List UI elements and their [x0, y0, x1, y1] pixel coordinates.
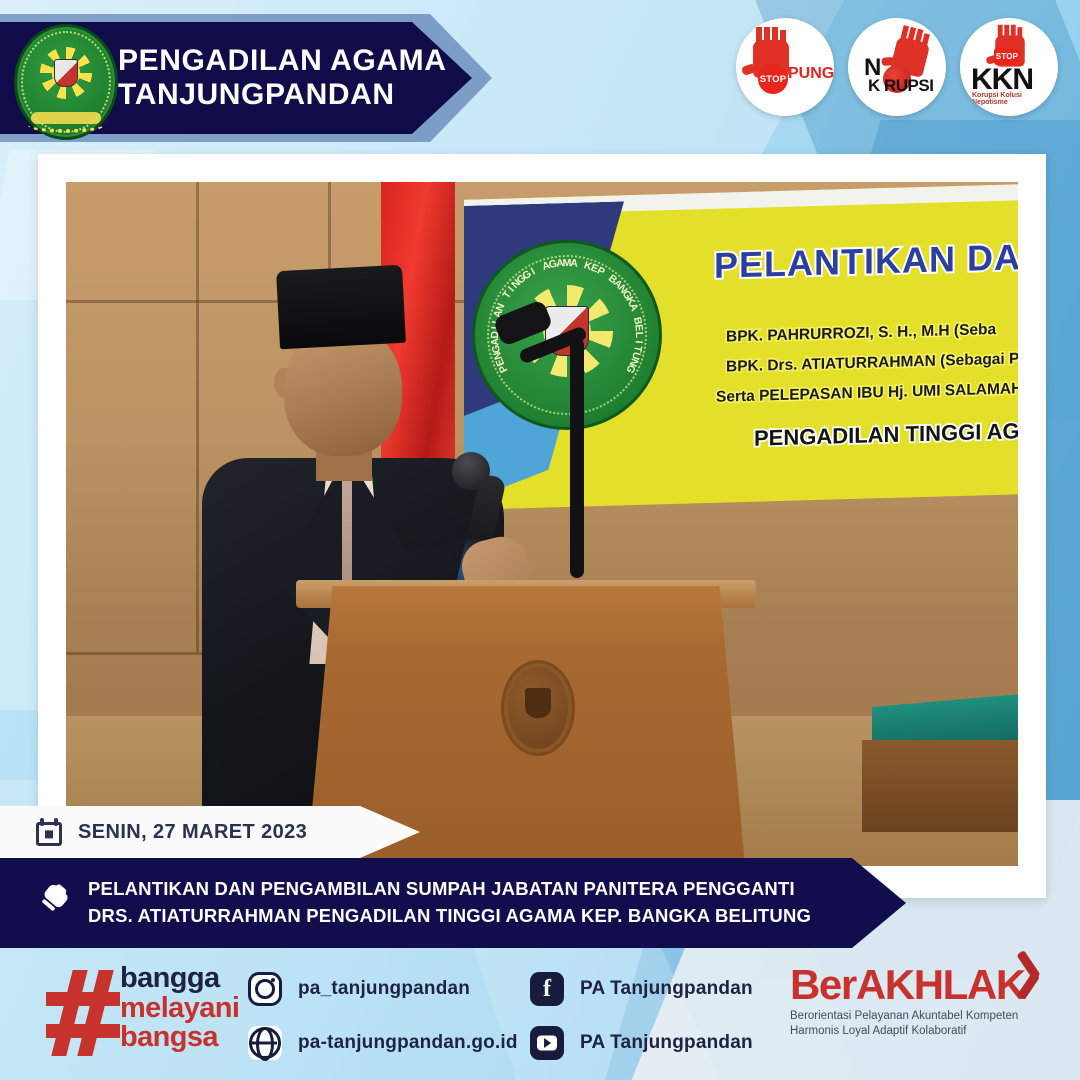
- banner-line-2: BPK. Drs. ATIATURRAHMAN (Sebagai P: [726, 350, 1018, 376]
- berakhlak-tagline: Berorientasi Pelayanan Akuntabel Kompete…: [790, 1009, 1058, 1039]
- podium-seal-icon: [501, 660, 575, 756]
- berakhlak-tagline-line1: Berorientasi Pelayanan Akuntabel Kompete…: [790, 1009, 1058, 1024]
- stand-mic: [570, 338, 584, 578]
- page-title-line1: PENGADILAN AGAMA: [118, 44, 446, 77]
- kkn-badge: STOP KKN Korupsi Kolusi Nepotisme: [960, 18, 1058, 116]
- youtube-icon[interactable]: [530, 1026, 564, 1060]
- kkn-sublabel: Korupsi Kolusi Nepotisme: [972, 92, 1058, 106]
- social-item-website[interactable]: pa-tanjungpandan.go.id: [248, 1020, 518, 1066]
- instagram-icon[interactable]: [248, 972, 282, 1006]
- bangga-melayani-bangsa-logo: bangga melayani bangsa: [46, 962, 238, 1062]
- social-item-instagram[interactable]: pa_tanjungpandan: [248, 966, 518, 1012]
- emblem-laurel: [28, 117, 105, 133]
- no-korupsi-badge: N K RUPSI: [848, 18, 946, 116]
- event-date: SENIN, 27 MARET 2023: [78, 821, 307, 844]
- berakhlak-part2: AKHLAK: [856, 961, 1025, 1008]
- social-column-left: pa_tanjungpandan pa-tanjungpandan.go.id: [248, 966, 518, 1074]
- berakhlak-tagline-line2: Harmonis Loyal Adaptif Kolaboratif: [790, 1024, 1058, 1039]
- berakhlak-wordmark: BerAKHLAK: [790, 964, 1058, 1006]
- instagram-handle[interactable]: pa_tanjungpandan: [298, 978, 470, 1000]
- caption-line-2: DRS. ATIATURRAHMAN PENGADILAN TINGGI AGA…: [88, 903, 811, 930]
- calendar-icon: [36, 818, 62, 846]
- pushpin-icon: [40, 886, 70, 920]
- stop-label: STOP: [758, 64, 788, 94]
- banner-title: PELANTIKAN DAN PENGAM: [714, 236, 1018, 287]
- banner-footer: PENGADILAN TINGGI AGAMA: [754, 417, 1018, 452]
- social-column-right: f PA Tanjungpandan PA Tanjungpandan: [530, 966, 753, 1074]
- globe-icon[interactable]: [248, 1026, 282, 1060]
- facebook-icon[interactable]: f: [530, 972, 564, 1006]
- bangga-word-3: bangsa: [120, 1023, 239, 1053]
- footer: bangga melayani bangsa pa_tanjungpandan …: [0, 948, 1080, 1080]
- social-item-youtube[interactable]: PA Tanjungpandan: [530, 1020, 753, 1066]
- bangga-word-1: bangga: [120, 964, 239, 994]
- hashtag-icon: [46, 970, 120, 1056]
- berakhlak-logo: BerAKHLAK Berorientasi Pelayanan Akuntab…: [790, 964, 1058, 1039]
- event-caption: PELANTIKAN DAN PENGAMBILAN SUMPAH JABATA…: [88, 876, 811, 930]
- korupsi-label: K RUPSI: [868, 76, 933, 96]
- page-title-line2: TANJUNGPANDAN: [118, 78, 446, 112]
- social-item-facebook[interactable]: f PA Tanjungpandan: [530, 966, 753, 1012]
- stop-pungli-badge: STOP PUNGLI: [736, 18, 834, 116]
- facebook-handle[interactable]: PA Tanjungpandan: [580, 978, 753, 1000]
- event-photo: PELANTIKAN DAN PENGAM BPK. PAHRURROZI, S…: [66, 182, 1018, 866]
- emblem-shield: [54, 59, 78, 87]
- swoosh-icon: [1022, 950, 1062, 994]
- website-url[interactable]: pa-tanjungpandan.go.id: [298, 1032, 518, 1054]
- berakhlak-part1: Ber: [790, 961, 856, 1008]
- date-bar: SENIN, 27 MARET 2023: [0, 806, 420, 858]
- caption-line-1: PELANTIKAN DAN PENGAMBILAN SUMPAH JABATA…: [88, 876, 811, 903]
- brown-table: [862, 740, 1018, 832]
- songkok-cap: [276, 265, 406, 349]
- bangga-logo-words: bangga melayani bangsa: [120, 964, 239, 1053]
- pungli-label: PUNGLI: [788, 65, 834, 83]
- bangga-word-2: melayani: [120, 994, 239, 1024]
- page-title: PENGADILAN AGAMA TANJUNGPANDAN: [118, 44, 446, 111]
- anti-corruption-badges: STOP PUNGLI N K RUPSI STOP KKN Korupsi K…: [736, 18, 1058, 116]
- banner-line-3: Serta PELEPASAN IBU Hj. UMI SALAMAH TATR: [716, 379, 1018, 407]
- caption-bar: PELANTIKAN DAN PENGAMBILAN SUMPAH JABATA…: [0, 858, 906, 948]
- court-emblem-icon: [14, 24, 118, 140]
- banner-line-1: BPK. PAHRURROZI, S. H., M.H (Seba: [726, 321, 996, 347]
- youtube-handle[interactable]: PA Tanjungpandan: [580, 1032, 753, 1054]
